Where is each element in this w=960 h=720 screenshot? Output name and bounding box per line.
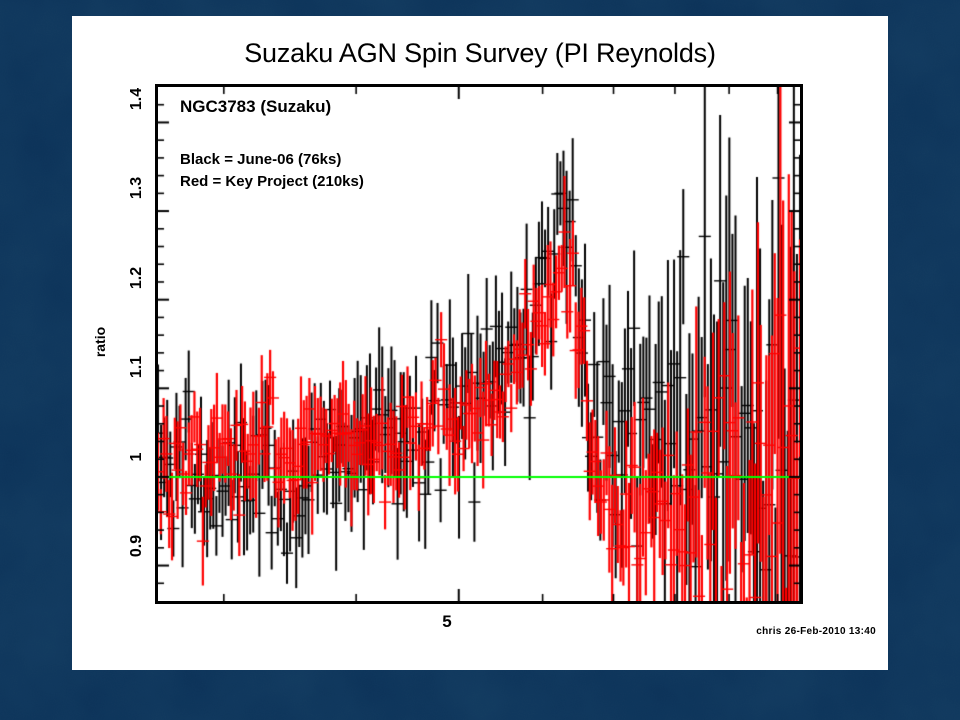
slide-background: Suzaku AGN Spin Survey (PI Reynolds) 1.4…: [0, 0, 960, 720]
ytick-label-1: 1: [128, 437, 146, 477]
ytick-label-0-9: 0.9: [128, 526, 146, 566]
legend-red-entry: Red = Key Project (210ks): [180, 173, 364, 190]
footer-credit: chris 26-Feb-2010 13:40: [756, 626, 876, 637]
xtick-label-5: 5: [407, 612, 487, 632]
ytick-label-1-1: 1.1: [128, 347, 146, 387]
y-axis-label: ratio: [92, 312, 108, 372]
plot-area: NGC3783 (Suzaku) Black = June-06 (76ks) …: [155, 84, 803, 604]
ytick-label-1-4: 1.4: [128, 79, 146, 119]
legend-black-entry: Black = June-06 (76ks): [180, 151, 341, 168]
page-title: Suzaku AGN Spin Survey (PI Reynolds): [72, 38, 888, 69]
ytick-label-1-2: 1.2: [128, 258, 146, 298]
ytick-label-1-3: 1.3: [128, 168, 146, 208]
slide-white-panel: Suzaku AGN Spin Survey (PI Reynolds) 1.4…: [72, 16, 888, 670]
annotation-target-name: NGC3783 (Suzaku): [180, 97, 331, 117]
